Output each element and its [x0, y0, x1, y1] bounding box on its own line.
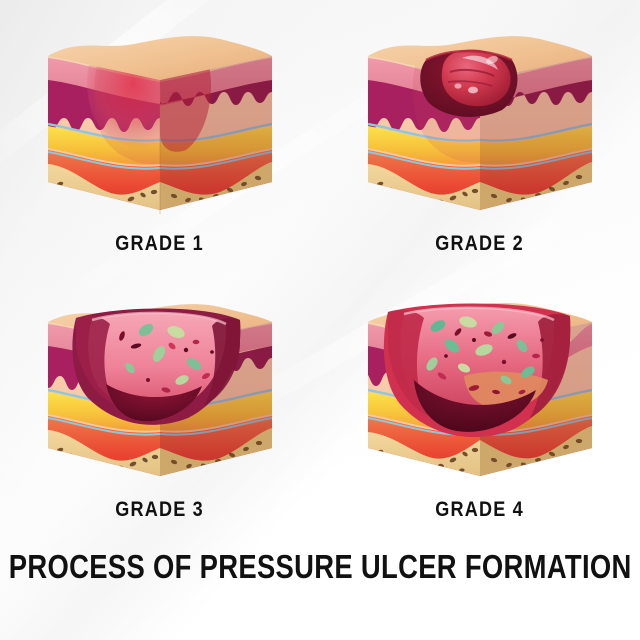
necrotic-dot	[146, 378, 150, 382]
necrotic-dot	[502, 360, 506, 364]
page-title: PROCESS OF PRESSURE ULCER FORMATION	[9, 548, 632, 586]
necrotic-dot	[184, 348, 188, 352]
grade-label-1: GRADE 1	[116, 232, 205, 256]
illustration-page: GRADE 1	[0, 0, 640, 640]
skin-block-diagram-grade-3	[26, 280, 294, 492]
skin-block-diagram-grade-4	[346, 280, 614, 492]
necrotic-dot	[444, 354, 448, 358]
blister-highlight-dot	[468, 87, 478, 94]
necrotic-dot	[472, 338, 476, 342]
grade-label-3: GRADE 3	[116, 498, 205, 522]
panel-grade-4: GRADE 4	[320, 268, 640, 536]
title-area: PROCESS OF PRESSURE ULCER FORMATION	[0, 536, 640, 640]
necrotic-spot	[532, 354, 540, 358]
skin-block-diagram-grade-1	[26, 14, 294, 226]
panel-grade-1: GRADE 1	[0, 0, 320, 268]
panel-grade-3: GRADE 3	[0, 268, 320, 536]
necrotic-dot	[540, 338, 544, 342]
necrotic-dot	[210, 350, 214, 354]
grade-label-4: GRADE 4	[436, 498, 525, 522]
grade-label-2: GRADE 2	[436, 232, 525, 256]
blister-highlight-dot	[454, 83, 461, 88]
necrotic-spot	[193, 340, 200, 344]
skin-block-diagram-grade-2	[346, 14, 614, 226]
panel-grade-2: GRADE 2	[320, 0, 640, 268]
